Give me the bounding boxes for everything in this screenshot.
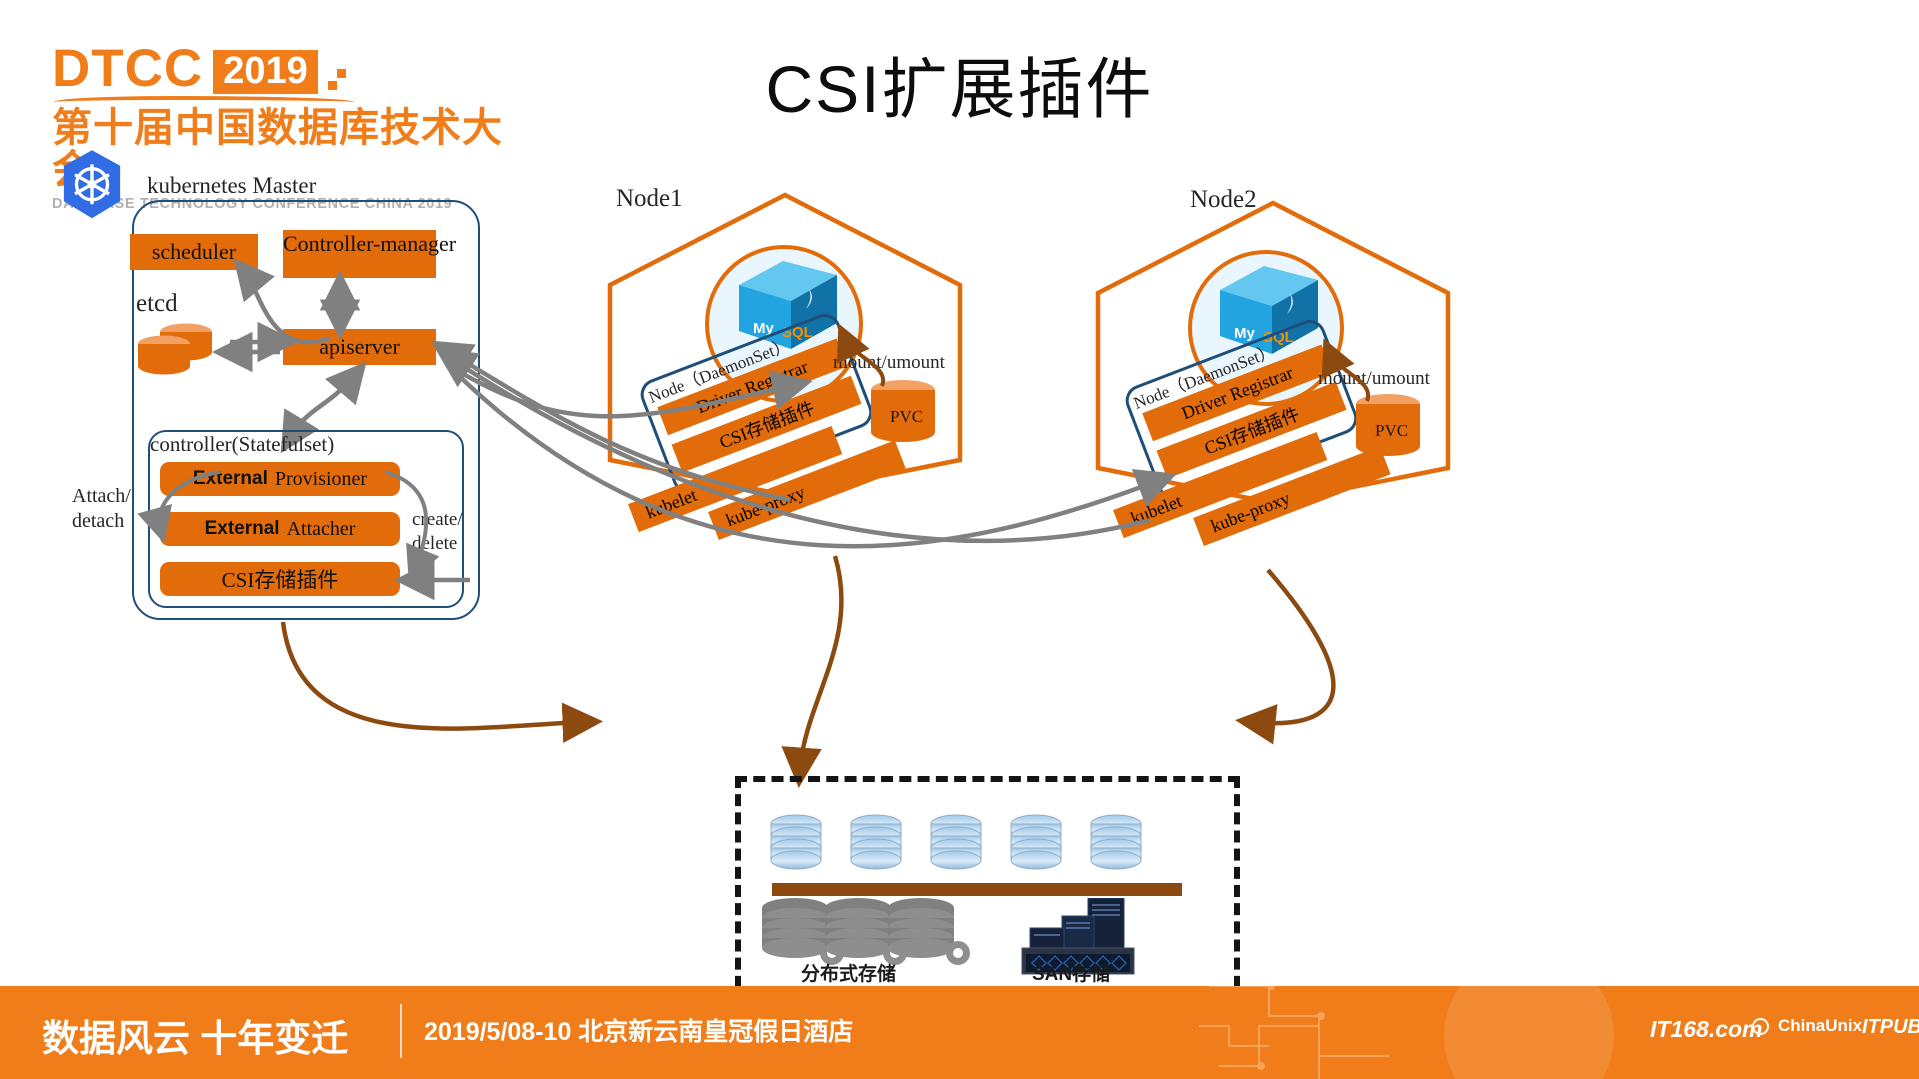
sponsor-chinaunix-label: ChinaUnix bbox=[1778, 1016, 1862, 1036]
slide-footer: 数据风云 十年变迁 2019/5/08-10 北京新云南皇冠假日酒店 IT168… bbox=[0, 986, 1919, 1079]
san-storage-label: SAN存储 bbox=[1032, 959, 1110, 986]
storage-disk-row-top bbox=[770, 812, 1190, 882]
footer-slogan: 数据风云 十年变迁 bbox=[42, 1008, 348, 1062]
slide-canvas: DTCC 2019 第十届中国数据库技术大会 DATABASE TECHNOLO… bbox=[0, 0, 1919, 1079]
footer-date-venue: 2019/5/08-10 北京新云南皇冠假日酒店 bbox=[424, 1012, 853, 1048]
sponsor-it168-logo: IT168.com bbox=[1650, 1016, 1763, 1043]
sponsor-it168-label: IT168.com bbox=[1650, 1016, 1763, 1043]
footer-circuit-decoration bbox=[1199, 986, 1619, 1079]
sponsor-itpub-label: ITPUB bbox=[1862, 1016, 1919, 1039]
storage-divider-bar bbox=[772, 883, 1182, 896]
chinaunix-circle-icon bbox=[1752, 1018, 1769, 1035]
distributed-storage-label: 分布式存储 bbox=[801, 959, 896, 986]
footer-divider bbox=[400, 1004, 402, 1058]
sponsor-itpub-logo: ITPUB bbox=[1862, 1016, 1919, 1039]
sponsor-chinaunix-logo: ChinaUnix bbox=[1752, 1016, 1862, 1036]
